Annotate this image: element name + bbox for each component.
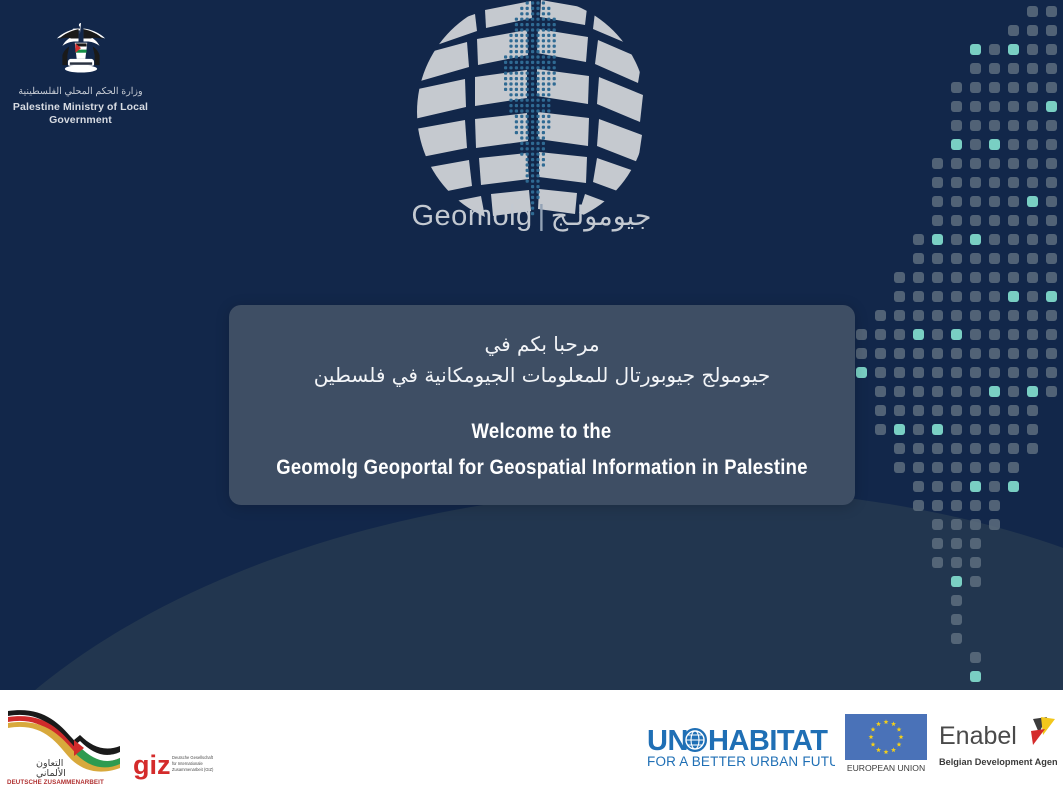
- svg-text:für Internationale: für Internationale: [172, 761, 203, 766]
- svg-text:EUROPEAN UNION: EUROPEAN UNION: [847, 763, 925, 773]
- dotted-palestine-map-pattern: [848, 0, 1063, 690]
- welcome-english-line2: Geomolg Geoportal for Geospatial Informa…: [276, 456, 808, 480]
- hero-section: وزارة الحكم المحلي الفلسطينية Palestine …: [0, 0, 1063, 690]
- welcome-english-line1: Welcome to the: [472, 420, 612, 444]
- geomolg-wordmark-separator: |: [533, 200, 551, 232]
- footer-right-logos: UN HABITAT FOR A BETTER URBAN FUTURE EUR…: [645, 712, 1057, 774]
- svg-text:HABITAT: HABITAT: [708, 725, 828, 757]
- european-union-flag-logo: EUROPEAN UNION: [843, 712, 929, 774]
- enabel-logo: Enabel Belgian Development Agency: [937, 715, 1057, 771]
- svg-text:Belgian Development Agency: Belgian Development Agency: [939, 757, 1057, 767]
- svg-text:DEUTSCHE ZUSAMMENARBEIT: DEUTSCHE ZUSAMMENARBEIT: [7, 779, 104, 786]
- svg-text:Deutsche Gesellschaft: Deutsche Gesellschaft: [172, 755, 214, 760]
- svg-text:FOR A BETTER URBAN FUTURE: FOR A BETTER URBAN FUTURE: [647, 754, 835, 769]
- welcome-arabic-line2: جيومولج جيوبورتال للمعلومات الجيومكانية …: [314, 361, 771, 390]
- eagle-of-saladin-icon: [50, 18, 112, 80]
- geomolg-wordmark-en: Geomolg: [412, 200, 533, 232]
- geomolg-wordmark-ar: جيومولـج: [551, 201, 652, 231]
- svg-text:الألماني: الألماني: [36, 767, 66, 779]
- german-cooperation-logo: التعاون الألماني DEUTSCHE ZUSAMMENARBEIT: [6, 708, 124, 786]
- footer-left-logos: التعاون الألماني DEUTSCHE ZUSAMMENARBEIT…: [6, 708, 214, 786]
- un-habitat-logo: UN HABITAT FOR A BETTER URBAN FUTURE: [645, 716, 835, 770]
- footer-partner-logos: التعاون الألماني DEUTSCHE ZUSAMMENARBEIT…: [0, 690, 1063, 802]
- welcome-panel: مرحبا بكم في جيومولج جيوبورتال للمعلومات…: [229, 305, 855, 505]
- welcome-arabic-line1: مرحبا بكم في: [484, 330, 599, 359]
- giz-logo: giz Deutsche Gesellschaft für Internatio…: [132, 746, 214, 782]
- geomolg-wordmark: Geomolg|جيومولـج: [412, 200, 652, 233]
- svg-text:UN: UN: [647, 725, 688, 757]
- svg-text:Zusammenarbeit (GIZ) GmbH: Zusammenarbeit (GIZ) GmbH: [172, 767, 214, 772]
- ministry-logo-block: وزارة الحكم المحلي الفلسطينية Palestine …: [8, 18, 153, 128]
- ministry-name-english-line2: Government: [8, 114, 153, 127]
- svg-text:Enabel: Enabel: [939, 722, 1017, 750]
- svg-text:giz: giz: [133, 750, 171, 780]
- ministry-name-english-line1: Palestine Ministry of Local: [8, 101, 153, 114]
- ministry-name-arabic: وزارة الحكم المحلي الفلسطينية: [8, 86, 153, 98]
- geomolg-globe-icon: [407, 0, 657, 242]
